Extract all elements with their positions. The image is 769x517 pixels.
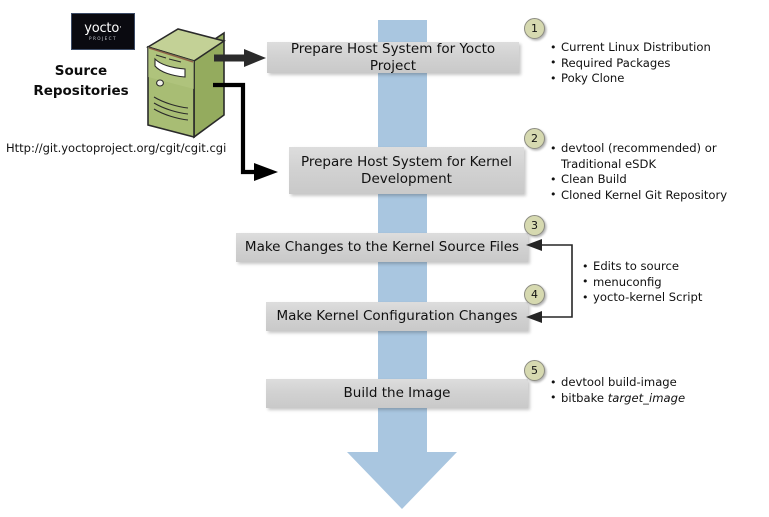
box-make-kernel-source-changes[interactable]: Make Changes to the Kernel Source Files [236,233,528,262]
list-item: Clean Build [550,172,766,188]
source-label-line-1: Source [16,62,146,82]
list-item: Edits to source [582,259,768,275]
server-tower-icon [136,27,228,149]
list-item: Poky Clone [550,71,766,87]
list-item: menuconfig [582,275,768,291]
step-1-bullet-list: Current Linux Distribution Required Pack… [550,40,766,87]
step-number-5: 5 [524,360,545,381]
kernel-development-flow-diagram: yocto· PROJECT Source Repositories Http:… [0,0,769,517]
box-make-kernel-config-changes[interactable]: Make Kernel Configuration Changes [266,302,528,331]
bullet-text: bitbake [561,391,608,405]
yocto-project-logo: yocto· PROJECT [71,13,135,50]
box-label: Build the Image [344,385,451,402]
source-repositories-label: Source Repositories [16,62,146,101]
box-prepare-host-kernel[interactable]: Prepare Host System for Kernel Developme… [289,147,524,194]
step-number-3: 3 [524,215,545,236]
bullet-text-emphasis: target_image [608,391,685,405]
step-4-bullet-list: Edits to source menuconfig yocto-kernel … [582,259,768,306]
bullet-text-continuation: Traditional eSDK [561,157,766,173]
bullet-text: Required Packages [561,56,670,70]
bullet-text: devtool (recommended) or [561,141,717,155]
bullet-text: devtool build-image [561,375,677,389]
box-build-the-image[interactable]: Build the Image [266,379,528,408]
step-2-bullet-list: devtool (recommended) or Traditional eSD… [550,141,766,203]
bullet-text: yocto-kernel Script [593,290,702,304]
list-item: bitbake target_image [550,391,750,407]
logo-subtext: PROJECT [89,37,117,41]
bullet-text: Cloned Kernel Git Repository [561,188,727,202]
logo-word-text: yocto [84,21,119,36]
bullet-text: Clean Build [561,172,627,186]
list-item: Current Linux Distribution [550,40,766,56]
bullet-text: Edits to source [593,259,679,273]
list-item: devtool (recommended) or Traditional eSD… [550,141,766,172]
box-prepare-host-yocto[interactable]: Prepare Host System for Yocto Project [267,42,519,73]
step-number-4: 4 [524,284,545,305]
list-item: Cloned Kernel Git Repository [550,188,766,204]
box-label: Prepare Host System for Kernel Developme… [295,154,518,188]
bullet-text: menuconfig [593,275,662,289]
box-label: Make Changes to the Kernel Source Files [245,239,519,256]
step-number-2: 2 [524,128,545,149]
bullet-text: Current Linux Distribution [561,40,711,54]
list-item: yocto-kernel Script [582,290,768,306]
main-flow-arrow-head [347,452,457,509]
step-5-bullet-list: devtool build-image bitbake target_image [550,375,750,406]
list-item: devtool build-image [550,375,750,391]
list-item: Required Packages [550,56,766,72]
logo-wordmark: yocto· [84,22,122,35]
box-label: Make Kernel Configuration Changes [276,308,517,325]
box-label: Prepare Host System for Yocto Project [273,41,513,75]
bullet-text: Poky Clone [561,71,624,85]
source-label-line-2: Repositories [16,82,146,102]
logo-dot: · [119,23,122,33]
step-number-1: 1 [524,18,545,39]
